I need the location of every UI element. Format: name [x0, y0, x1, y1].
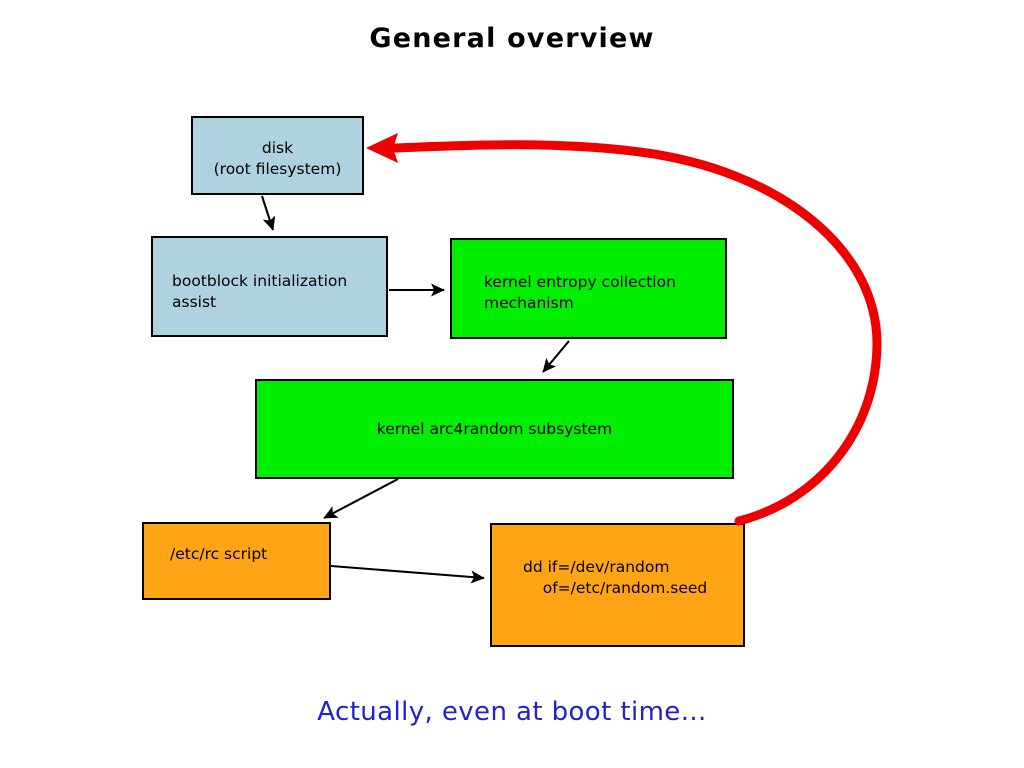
- red-feedback-arrow-layer: [0, 0, 1024, 768]
- slide-canvas: General overview disk (root filesystem) …: [0, 0, 1024, 768]
- edge-dd-to-disk-curve: [394, 145, 877, 521]
